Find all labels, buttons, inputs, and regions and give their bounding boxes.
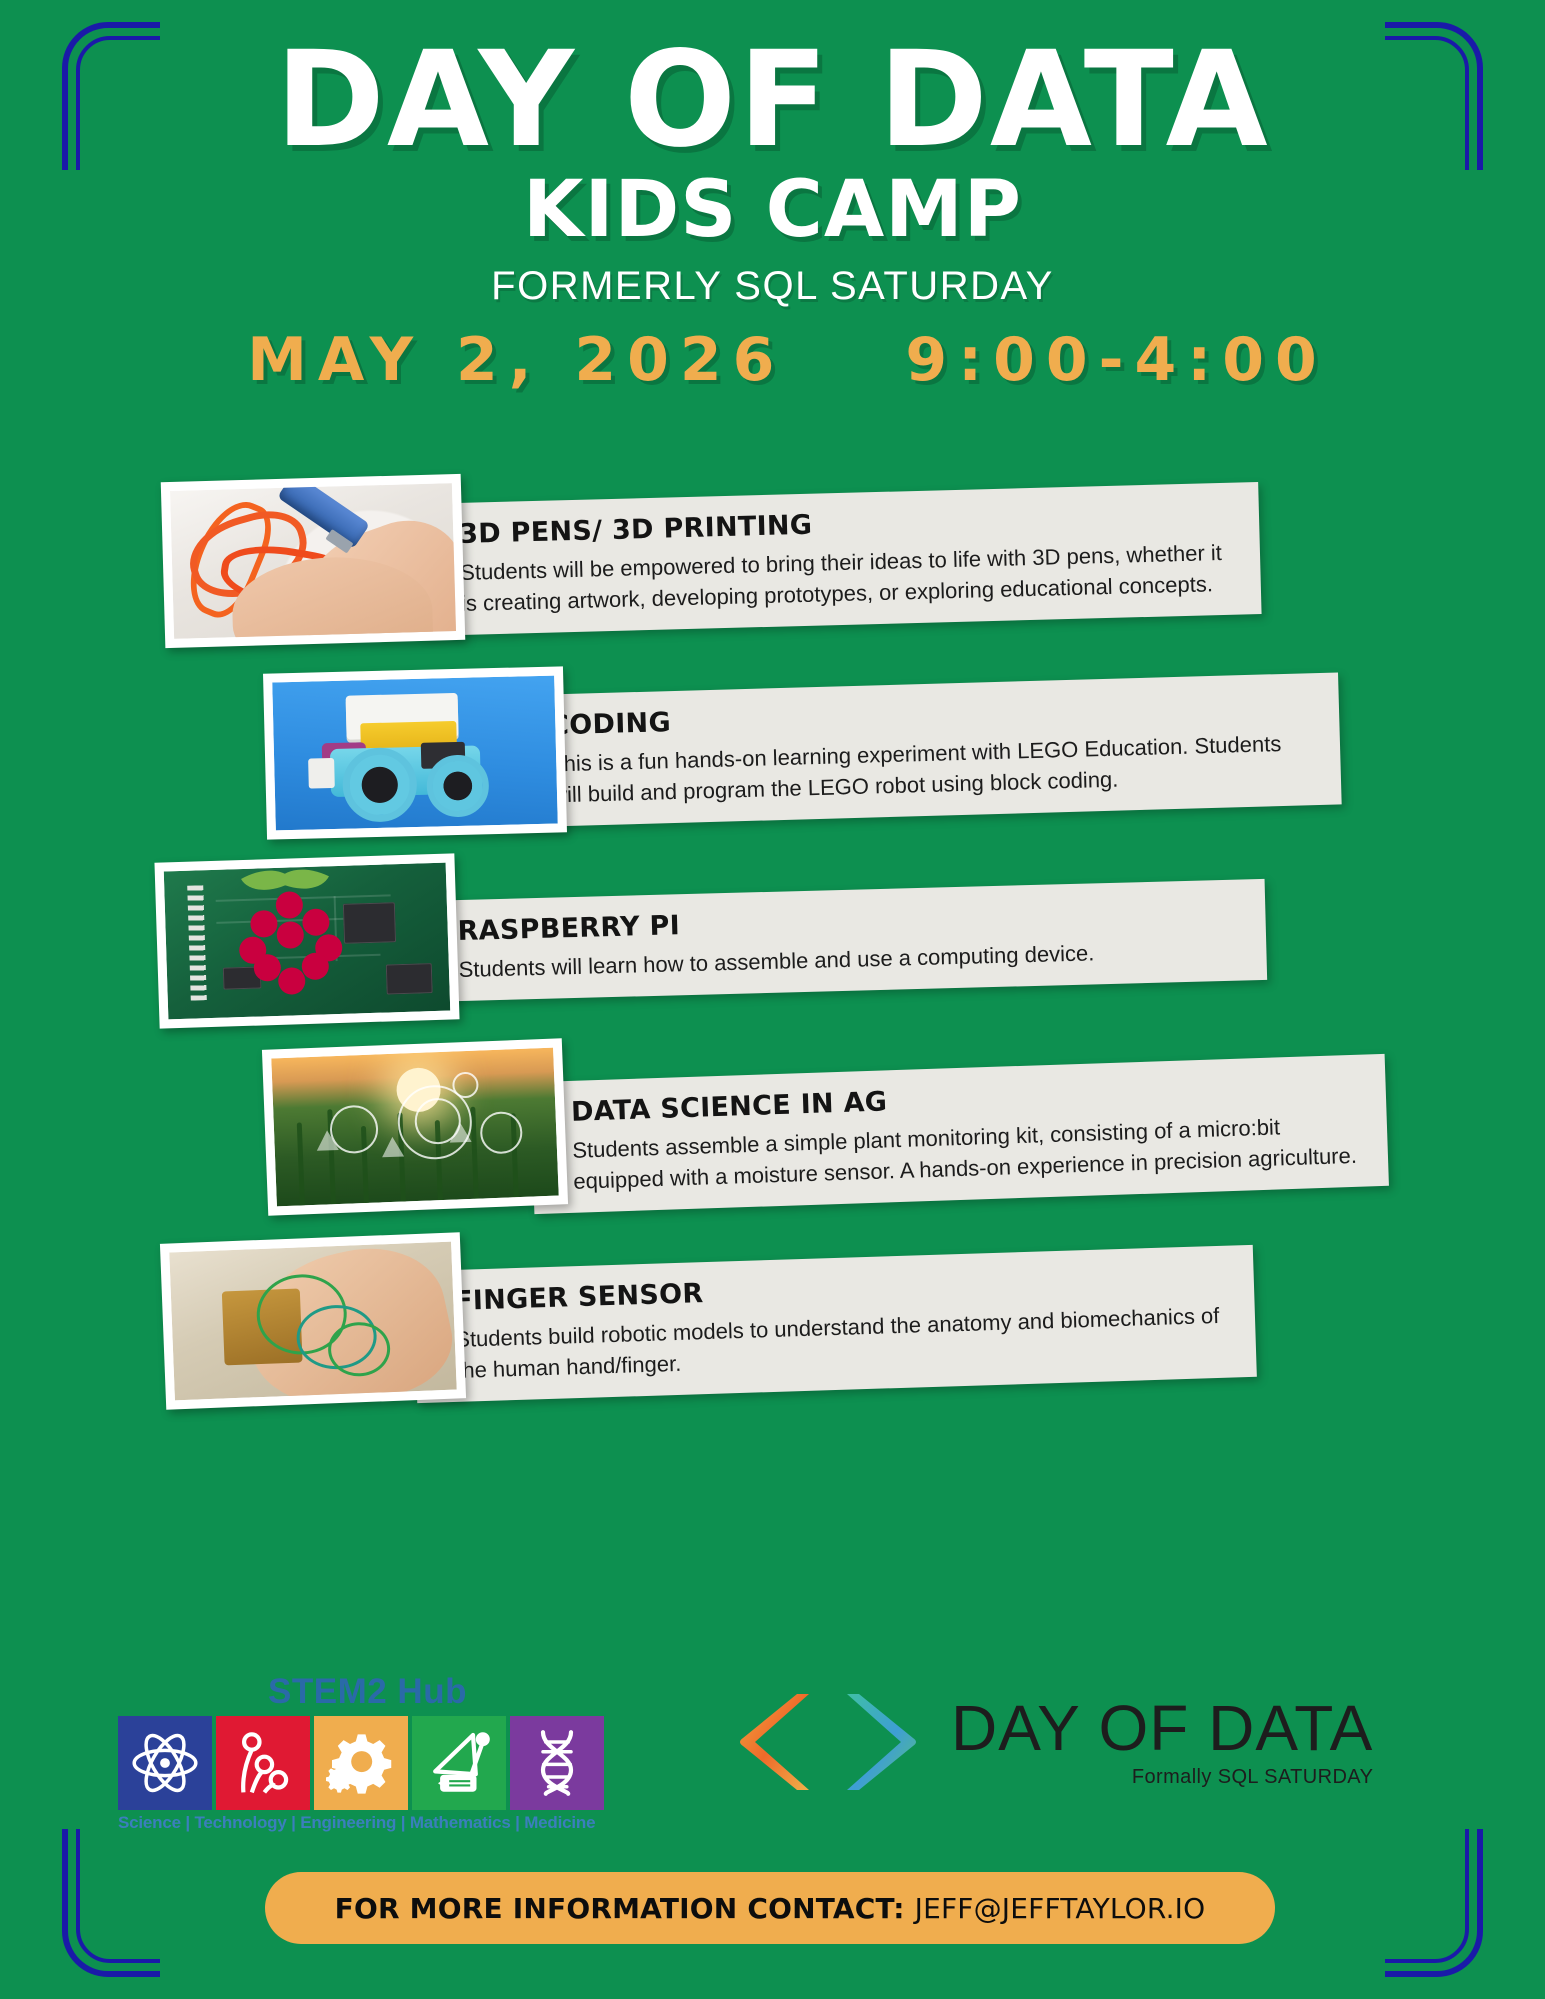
activity-photo-coding [263,666,567,839]
raspberry-pi-board-icon [164,863,451,1020]
event-time: 9:00-4:00 [905,325,1327,395]
stem2hub-tiles [118,1716,604,1810]
contact-text: FOR MORE INFORMATION CONTACT: JEFF@JEFFT… [335,1892,1206,1925]
logo-row: STEM2 Hub [0,1672,1545,1832]
precision-agriculture-icon [271,1048,558,1207]
activity-photo-raspberry-pi [154,853,459,1028]
3d-pen-drawing-icon [170,483,456,639]
robotic-finger-icon [169,1242,456,1401]
activity-textbox-finger-sensor: FINGER SENSOR Students build robotic mod… [413,1245,1257,1404]
activity-card-list: 3D PENS/ 3D PRINTING Students will be em… [0,470,1545,1420]
event-date: MAY 2, 2026 [247,325,785,395]
atom-icon [118,1716,212,1810]
gears-icon [314,1716,408,1810]
activity-textbox-coding: CODING This is a fun hands-on learning e… [508,672,1341,828]
day-of-data-logo: DAY OF DATA Formally SQL SATURDAY [735,1690,1373,1794]
poster-title: DAY OF DATA [0,34,1545,166]
activity-textbox-3d-pens: 3D PENS/ 3D PRINTING Students will be em… [418,482,1261,636]
frame-mask-bottom [160,1949,1385,1991]
poster-root: DAY OF DATA KIDS CAMP FORMERLY SQL SATUR… [0,0,1545,1999]
day-of-data-name: DAY OF DATA [951,1696,1373,1760]
contact-bar[interactable]: FOR MORE INFORMATION CONTACT: JEFF@JEFFT… [265,1872,1275,1944]
contact-email[interactable]: JEFF@JEFFTAYLOR.IO [915,1892,1206,1925]
poster-header: DAY OF DATA KIDS CAMP FORMERLY SQL SATUR… [0,34,1545,395]
activity-card-raspberry-pi: RASPBERRY PI Students will learn how to … [0,850,1545,1040]
activity-textbox-data-science-ag: DATA SCIENCE IN AG Students assemble a s… [530,1054,1389,1215]
activity-card-finger-sensor: FINGER SENSOR Students build robotic mod… [0,1230,1545,1420]
activity-textbox-raspberry-pi: RASPBERRY PI Students will learn how to … [417,879,1267,1002]
chevron-brackets-icon [735,1690,935,1794]
dna-icon [510,1716,604,1810]
circuit-icon [216,1716,310,1810]
ruler-compass-icon [412,1716,506,1810]
activity-card-3d-pens: 3D PENS/ 3D PRINTING Students will be em… [0,470,1545,660]
day-of-data-tagline: Formally SQL SATURDAY [1132,1766,1373,1789]
stem2hub-name: STEM2 Hub [268,1672,604,1712]
stem2hub-logo: STEM2 Hub [118,1672,604,1833]
day-of-data-wordmark: DAY OF DATA Formally SQL SATURDAY [951,1696,1373,1789]
activity-body: Students will be empowered to bring thei… [460,537,1235,620]
activity-photo-3d-pens [161,474,466,648]
event-datetime-row: MAY 2, 2026 9:00-4:00 [0,325,1545,395]
activity-photo-data-science-ag [262,1038,568,1215]
activity-card-coding: CODING This is a fun hands-on learning e… [0,660,1545,850]
poster-formerly-line: FORMERLY SQL SATURDAY [0,264,1545,309]
stem2hub-disciplines: Science | Technology | Engineering | Mat… [118,1813,604,1833]
contact-prefix: FOR MORE INFORMATION CONTACT: [335,1892,905,1925]
activity-card-data-science-ag: DATA SCIENCE IN AG Students assemble a s… [0,1040,1545,1230]
activity-body: This is a fun hands-on learning experime… [550,727,1315,811]
activity-photo-finger-sensor [160,1232,466,1409]
lego-robot-icon [272,676,558,831]
poster-subtitle: KIDS CAMP [0,170,1545,252]
